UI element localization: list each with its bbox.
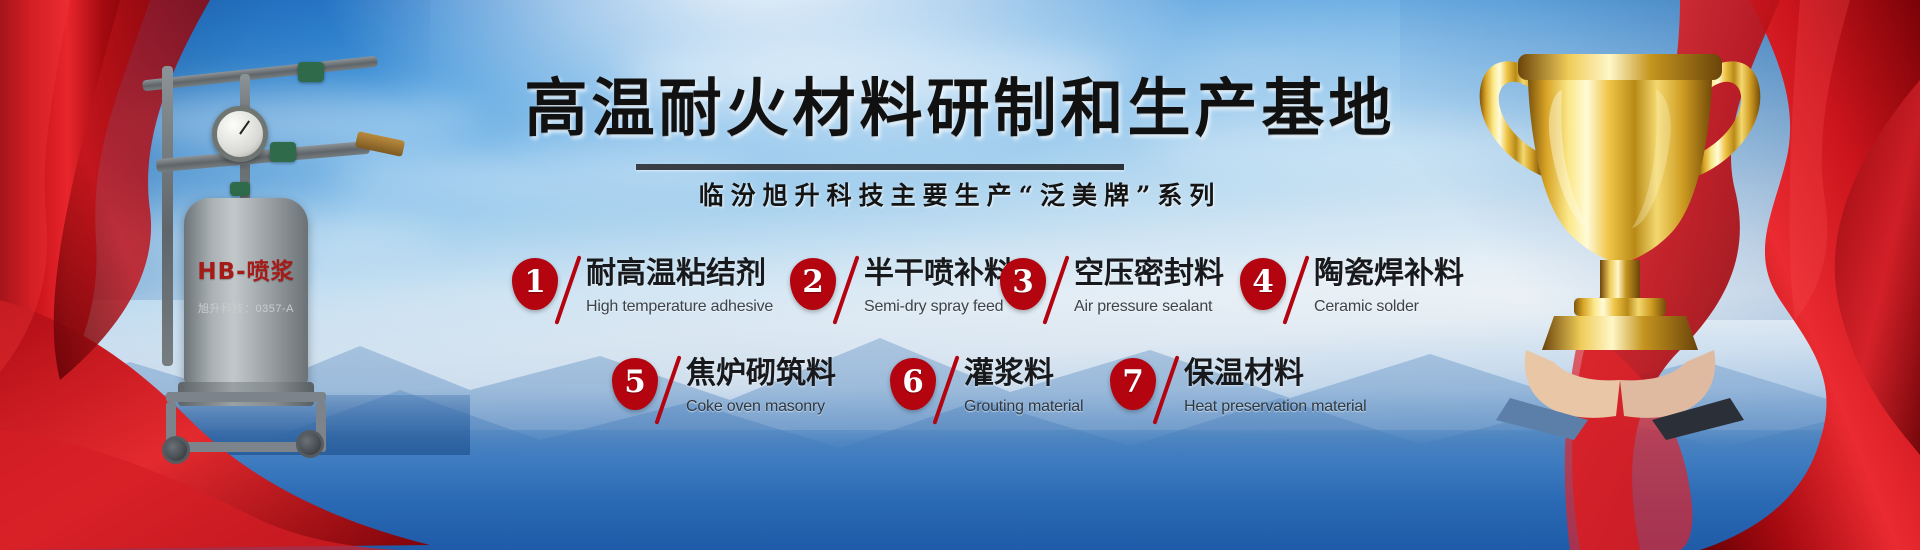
product-name-cn: 灌浆料 xyxy=(964,358,1083,390)
product-name-en: Grouting material xyxy=(964,397,1083,416)
product-name-cn: 保温材料 xyxy=(1184,358,1366,390)
number-badge-1: 1 xyxy=(512,258,558,310)
number-badge-4: 4 xyxy=(1240,258,1286,310)
number-badge-7: 7 xyxy=(1110,358,1156,410)
number-badge-2: 2 xyxy=(790,258,836,310)
badge-number: 5 xyxy=(624,367,646,398)
product-item-6[interactable]: 6 灌浆料 Grouting material xyxy=(890,358,1083,424)
badge-number: 4 xyxy=(1252,267,1274,298)
title-divider xyxy=(636,164,1124,170)
badge-number: 1 xyxy=(524,267,546,298)
slash-divider-icon xyxy=(654,358,684,424)
slash-divider-icon xyxy=(1282,258,1312,324)
product-name-cn: 陶瓷焊补料 xyxy=(1314,258,1464,290)
product-name-en: Air pressure sealant xyxy=(1074,297,1224,316)
product-name-en: Semi-dry spray feed xyxy=(864,297,1014,316)
product-item-5[interactable]: 5 焦炉砌筑料 Coke oven masonry xyxy=(612,358,836,424)
slash-divider-icon xyxy=(932,358,962,424)
badge-number: 7 xyxy=(1122,367,1144,398)
badge-number: 3 xyxy=(1012,267,1034,298)
page-title: 高温耐火材料研制和生产基地 xyxy=(0,58,1920,149)
slash-divider-icon xyxy=(1152,358,1182,424)
slash-divider-icon xyxy=(554,258,584,324)
banner-content: 高温耐火材料研制和生产基地 临汾旭升科技主要生产“泛美牌”系列 1 耐高温粘结剂… xyxy=(0,0,1920,550)
product-name-cn: 焦炉砌筑料 xyxy=(686,358,836,390)
product-item-4[interactable]: 4 陶瓷焊补料 Ceramic solder xyxy=(1240,258,1464,324)
number-badge-3: 3 xyxy=(1000,258,1046,310)
product-item-1[interactable]: 1 耐高温粘结剂 High temperature adhesive xyxy=(512,258,773,324)
slash-divider-icon xyxy=(832,258,862,324)
product-name-cn: 耐高温粘结剂 xyxy=(586,258,773,290)
promo-banner: HB-喷浆 旭升科技：0357-A 高温耐火材料研制和生产基地 临汾旭升科技主要… xyxy=(0,0,1920,550)
product-name-en: High temperature adhesive xyxy=(586,297,773,316)
badge-number: 6 xyxy=(902,367,924,398)
product-name-en: Heat preservation material xyxy=(1184,397,1366,416)
slash-divider-icon xyxy=(1042,258,1072,324)
page-subtitle: 临汾旭升科技主要生产“泛美牌”系列 xyxy=(0,176,1920,212)
number-badge-5: 5 xyxy=(612,358,658,410)
product-item-3[interactable]: 3 空压密封料 Air pressure sealant xyxy=(1000,258,1224,324)
product-item-2[interactable]: 2 半干喷补料 Semi-dry spray feed xyxy=(790,258,1014,324)
product-name-cn: 半干喷补料 xyxy=(864,258,1014,290)
product-name-en: Coke oven masonry xyxy=(686,397,836,416)
badge-number: 2 xyxy=(802,267,824,298)
product-name-cn: 空压密封料 xyxy=(1074,258,1224,290)
number-badge-6: 6 xyxy=(890,358,936,410)
product-item-7[interactable]: 7 保温材料 Heat preservation material xyxy=(1110,358,1366,424)
product-name-en: Ceramic solder xyxy=(1314,297,1464,316)
